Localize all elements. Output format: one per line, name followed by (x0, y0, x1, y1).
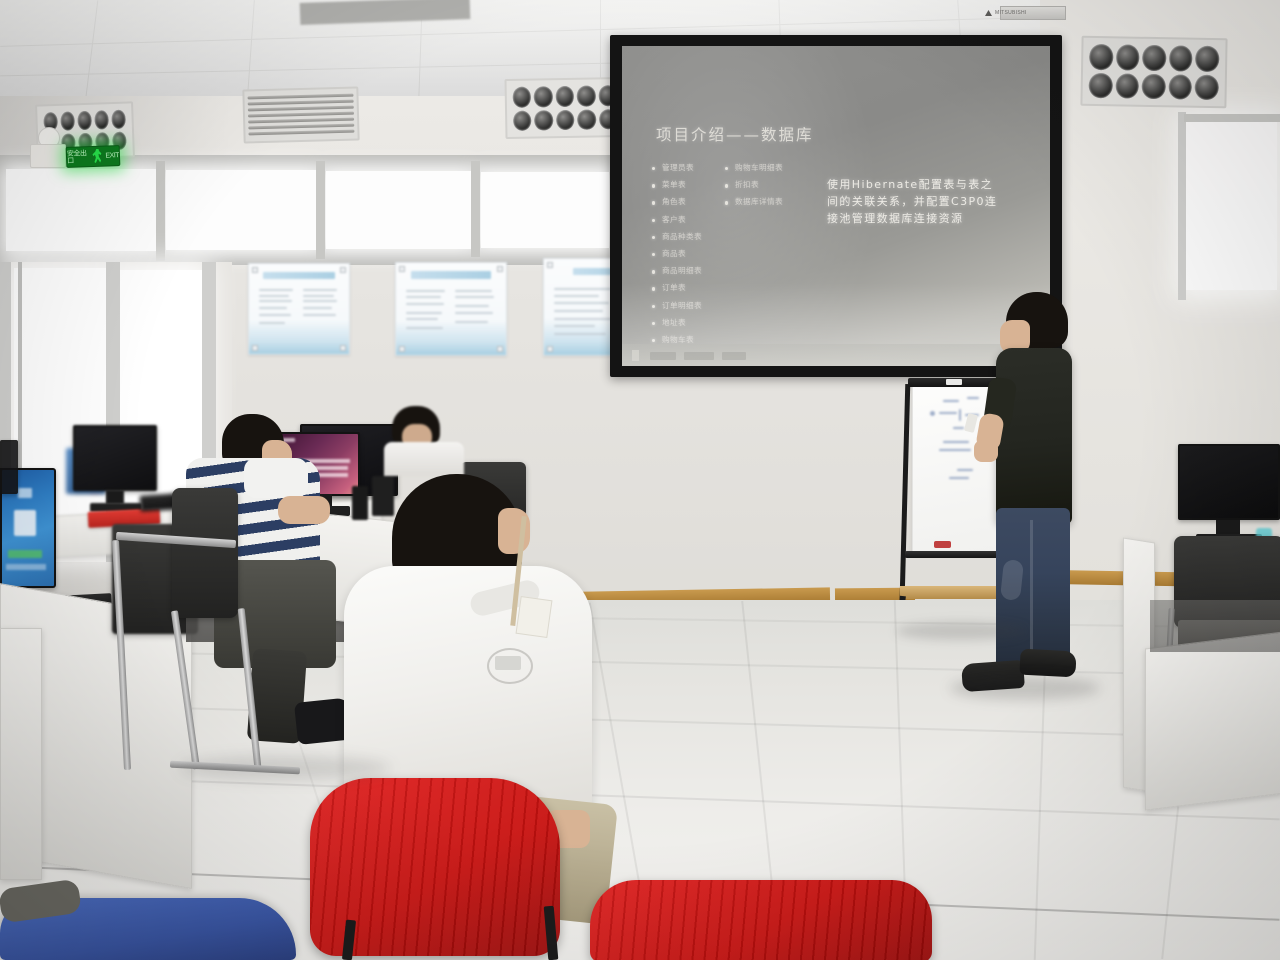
red-whiteboard-eraser[interactable] (934, 541, 951, 548)
chair-shadow (180, 756, 390, 780)
air-jet-nozzle-panel-center (504, 77, 625, 139)
red-chair-foreground-right[interactable] (590, 880, 932, 960)
student-striped-arm (278, 496, 330, 524)
slide-bullets-right: 购物车明细表 折扣表 数据库详情表 (725, 164, 783, 216)
brand-label: MITSUBISHI (995, 10, 1027, 16)
emergency-exit-sign: 安全出口 EXIT (66, 145, 121, 168)
list-item: 客户表 (652, 216, 702, 224)
desk-left-side-panel (0, 628, 42, 880)
speaker-2 (372, 476, 394, 516)
windows-taskbar (622, 344, 1050, 366)
air-jet-nozzle-panel-right (1080, 36, 1227, 109)
flipchart-clip[interactable] (946, 379, 962, 385)
list-item: 购物车明细表 (725, 164, 783, 172)
control-box (30, 144, 66, 168)
mitsubishi-logo-icon (985, 10, 992, 16)
presenter-hand (974, 440, 998, 462)
slide-note: 使用Hibernate配置表与表之间的关联关系，并配置C3P0连接池管理数据库连… (827, 176, 1005, 227)
air-conditioning-grille (242, 86, 359, 143)
projection-screen: 项目介绍——数据库 管理员表 菜单表 角色表 客户表 商品种类表 商品表 商品明… (610, 35, 1062, 377)
presenter-shirt (996, 348, 1072, 524)
list-item: 菜单表 (652, 181, 702, 189)
list-item: 商品明细表 (652, 267, 702, 275)
list-item: 商品表 (652, 250, 702, 258)
list-item: 折扣表 (725, 181, 783, 189)
list-item: 角色表 (652, 198, 702, 206)
monitor-left-edge (0, 440, 18, 494)
projector-brand: MITSUBISHI (985, 8, 1075, 18)
desk-right-top (1145, 632, 1280, 811)
desk-right-under (1150, 600, 1280, 652)
wall-poster-1 (248, 263, 350, 355)
projection-screen-surface: 项目介绍——数据库 管理员表 菜单表 角色表 客户表 商品种类表 商品表 商品明… (622, 46, 1050, 366)
student-striped-collar (244, 458, 308, 498)
id-badge (516, 596, 553, 638)
window-band (0, 155, 615, 265)
monitor-right (1178, 444, 1280, 520)
running-man-icon (92, 149, 104, 164)
list-item: 商品种类表 (652, 233, 702, 241)
exit-sign-left-text: 安全出口 (67, 150, 90, 165)
shirt-logo-inner (495, 656, 521, 670)
presenter-shoe-right (1019, 649, 1076, 678)
exit-sign-text: EXIT (105, 152, 119, 159)
list-item: 数据库详情表 (725, 198, 783, 206)
speaker (352, 486, 368, 520)
chair-striped-student[interactable] (172, 488, 238, 618)
presenter-shadow (950, 676, 1100, 700)
slide-title: 项目介绍——数据库 (656, 123, 814, 145)
start-icon[interactable] (632, 350, 639, 361)
list-item: 管理员表 (652, 164, 702, 172)
flipchart-tray (905, 551, 1005, 558)
classroom-scene: 安全出口 EXIT (0, 0, 1280, 960)
wall-poster-2 (395, 262, 507, 356)
student-back-shirt (384, 442, 464, 476)
window-right (1185, 120, 1277, 290)
monitor-back-left (73, 425, 157, 491)
flipchart-shadow (896, 622, 1026, 640)
jeans-seam (1030, 520, 1033, 668)
